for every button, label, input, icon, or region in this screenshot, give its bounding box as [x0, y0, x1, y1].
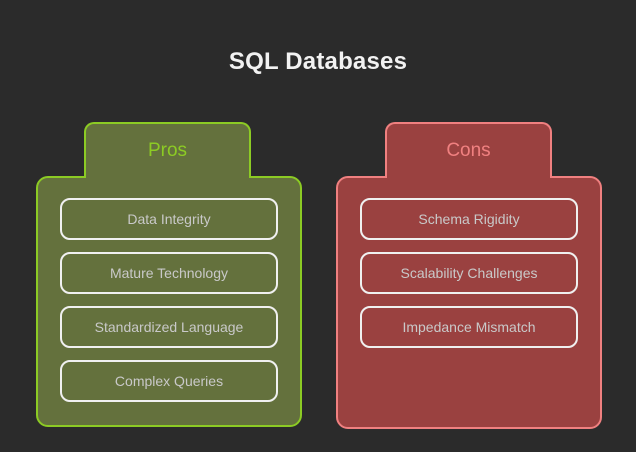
list-item-label: Standardized Language	[95, 319, 244, 335]
list-item[interactable]: Complex Queries	[60, 360, 278, 402]
list-item[interactable]: Schema Rigidity	[360, 198, 578, 240]
column-header-pros: Pros	[84, 122, 251, 178]
column-body-cons: Schema Rigidity Scalability Challenges I…	[336, 176, 602, 429]
diagram-canvas: SQL Databases Pros Data Integrity Mature…	[0, 0, 636, 452]
column-header-cons-label: Cons	[446, 140, 490, 162]
list-item-label: Complex Queries	[115, 373, 223, 389]
list-item-label: Impedance Mismatch	[402, 319, 535, 335]
list-item[interactable]: Data Integrity	[60, 198, 278, 240]
column-header-cons: Cons	[385, 122, 552, 178]
page-title: SQL Databases	[0, 48, 636, 76]
list-item[interactable]: Scalability Challenges	[360, 252, 578, 294]
pros-item-list: Data Integrity Mature Technology Standar…	[60, 198, 278, 402]
list-item-label: Data Integrity	[127, 211, 210, 227]
list-item[interactable]: Impedance Mismatch	[360, 306, 578, 348]
list-item-label: Schema Rigidity	[418, 211, 519, 227]
column-body-pros: Data Integrity Mature Technology Standar…	[36, 176, 302, 427]
list-item-label: Mature Technology	[110, 265, 228, 281]
list-item[interactable]: Mature Technology	[60, 252, 278, 294]
column-header-pros-label: Pros	[148, 140, 187, 162]
cons-item-list: Schema Rigidity Scalability Challenges I…	[360, 198, 578, 348]
list-item-label: Scalability Challenges	[401, 265, 538, 281]
list-item[interactable]: Standardized Language	[60, 306, 278, 348]
